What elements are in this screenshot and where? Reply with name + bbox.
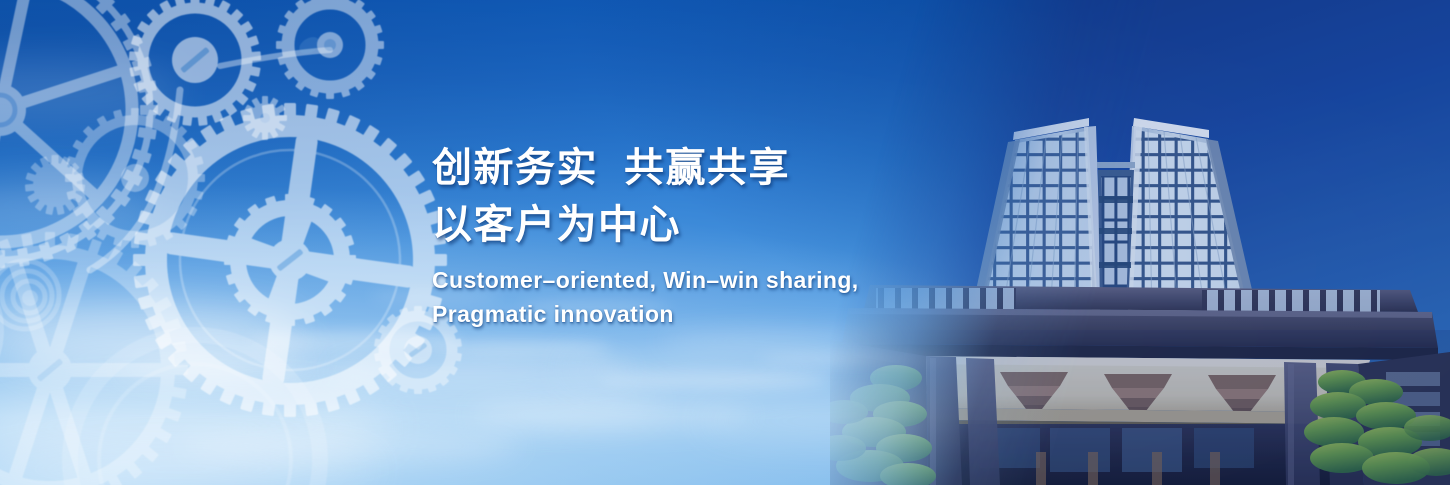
headline-phrase-1: 创新务实 xyxy=(432,146,598,190)
machine-gears-overlay xyxy=(0,0,490,485)
headline-line-2: 以客户为中心 xyxy=(432,197,952,254)
headline-line-1: 创新务实共赢共享 xyxy=(432,140,952,197)
subtitle-line-2: Pragmatic innovation xyxy=(432,298,952,331)
headline-phrase-2: 共赢共享 xyxy=(624,146,790,190)
hero-banner: 创新务实共赢共享 以客户为中心 Customer–oriented, Win–w… xyxy=(0,0,1450,485)
subtitle-line-1: Customer–oriented, Win–win sharing, xyxy=(432,264,952,297)
banner-copy: 创新务实共赢共享 以客户为中心 Customer–oriented, Win–w… xyxy=(432,140,952,331)
